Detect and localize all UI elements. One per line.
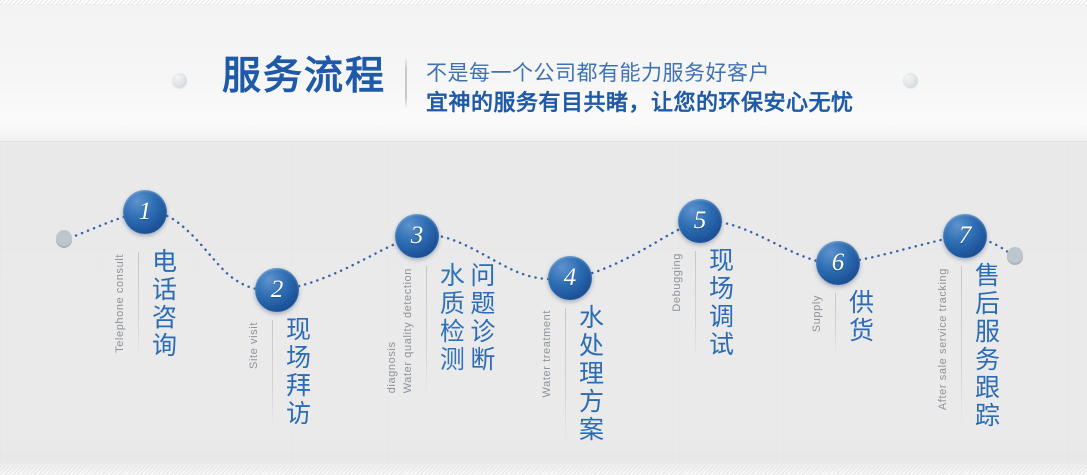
step-5-labels: 现场调试 Debugging [670, 247, 734, 359]
step-7-number: 7 [959, 223, 972, 250]
step-1-number: 1 [139, 199, 152, 226]
step-6-number-badge[interactable]: 6 [816, 241, 860, 285]
step-5-divider [695, 251, 696, 359]
step-5-number: 5 [694, 208, 707, 235]
step-3-number-badge[interactable]: 3 [395, 214, 439, 258]
step-6-cn-group: 供货 [844, 289, 875, 345]
decorative-dot-left-icon [172, 73, 187, 88]
step-5-number-badge[interactable]: 5 [678, 199, 722, 243]
step-3-divider [426, 266, 427, 396]
step-4-number: 4 [564, 265, 577, 292]
step-7-labels: 售后服务跟踪 After sale service tracking [936, 262, 1000, 430]
step-7-cn-group: 售后服务跟踪 [970, 262, 1001, 430]
step-3-cn-primary: 问题诊断 [465, 262, 496, 374]
step-5-cn-primary: 现场调试 [704, 247, 735, 359]
subtitle-line-2: 宜神的服务有目共睹，让您的环保安心无忧 [426, 88, 854, 118]
step-3-number: 3 [411, 223, 424, 250]
step-1-cn-primary: 电话咨询 [147, 248, 178, 360]
step-7-divider [961, 266, 962, 430]
step-4-number-badge[interactable]: 4 [548, 256, 592, 300]
step-7-number-badge[interactable]: 7 [943, 214, 987, 258]
header-band: 服务流程 不是每一个公司都有能力服务好客户 宜神的服务有目共睹，让您的环保安心无… [0, 5, 1087, 142]
step-2-divider [272, 320, 273, 428]
step-4-labels: 水处理方案 Water treatment [540, 304, 604, 444]
step-4-en-group: Water treatment [540, 310, 556, 397]
decorative-dot-right-icon [903, 73, 918, 88]
step-2-en-group: Site visit [247, 322, 263, 369]
step-1-number-badge[interactable]: 1 [123, 190, 167, 234]
step-4-cn-group: 水处理方案 [574, 304, 605, 444]
step-2-labels: 现场拜访 Site visit [247, 316, 311, 428]
step-6-labels: 供货 Supply [810, 289, 874, 355]
step-3-en-line-1: Water quality detection [401, 268, 417, 393]
step-2-cn-group: 现场拜访 [281, 316, 312, 428]
service-process-banner: 服务流程 不是每一个公司都有能力服务好客户 宜神的服务有目共睹，让您的环保安心无… [0, 0, 1087, 475]
step-5-cn-group: 现场调试 [704, 247, 735, 359]
step-3-cn-secondary: 水质检测 [435, 262, 466, 374]
step-1-cn-group: 电话咨询 [147, 248, 178, 360]
step-7-cn-primary: 售后服务跟踪 [970, 262, 1001, 430]
step-4-en-line-1: Water treatment [540, 310, 556, 397]
step-3-labels: 问题诊断 水质检测 Water quality detection diagno… [385, 262, 496, 396]
step-4-divider [565, 308, 566, 444]
step-3-cn-group: 问题诊断 水质检测 [435, 262, 496, 374]
step-1-divider [138, 252, 139, 360]
step-7-en-line-1: After sale service tracking [936, 268, 952, 410]
step-6-number: 6 [832, 250, 845, 277]
step-5-en-group: Debugging [670, 253, 686, 312]
header-subtitle: 不是每一个公司都有能力服务好客户 宜神的服务有目共睹，让您的环保安心无忧 [426, 60, 854, 118]
step-7-en-group: After sale service tracking [936, 268, 952, 410]
step-1-en-group: Telephone consult [113, 254, 129, 353]
subtitle-line-1: 不是每一个公司都有能力服务好客户 [426, 60, 854, 88]
page-title: 服务流程 [222, 57, 386, 96]
step-5-en-line-1: Debugging [670, 253, 686, 312]
step-3-en-line-2: diagnosis [385, 268, 401, 393]
step-2-number: 2 [271, 277, 284, 304]
step-6-divider [835, 293, 836, 355]
step-2-cn-primary: 现场拜访 [281, 316, 312, 428]
step-1-en-line-1: Telephone consult [113, 254, 129, 353]
header-divider [405, 57, 407, 109]
step-1-labels: 电话咨询 Telephone consult [113, 248, 177, 360]
step-3-en-group: Water quality detection diagnosis [385, 268, 417, 393]
step-6-en-group: Supply [810, 295, 826, 332]
step-2-en-line-1: Site visit [247, 322, 263, 369]
step-4-cn-primary: 水处理方案 [574, 304, 605, 444]
step-6-en-line-1: Supply [810, 295, 826, 332]
step-6-cn-primary: 供货 [844, 289, 875, 345]
step-2-number-badge[interactable]: 2 [255, 268, 299, 312]
